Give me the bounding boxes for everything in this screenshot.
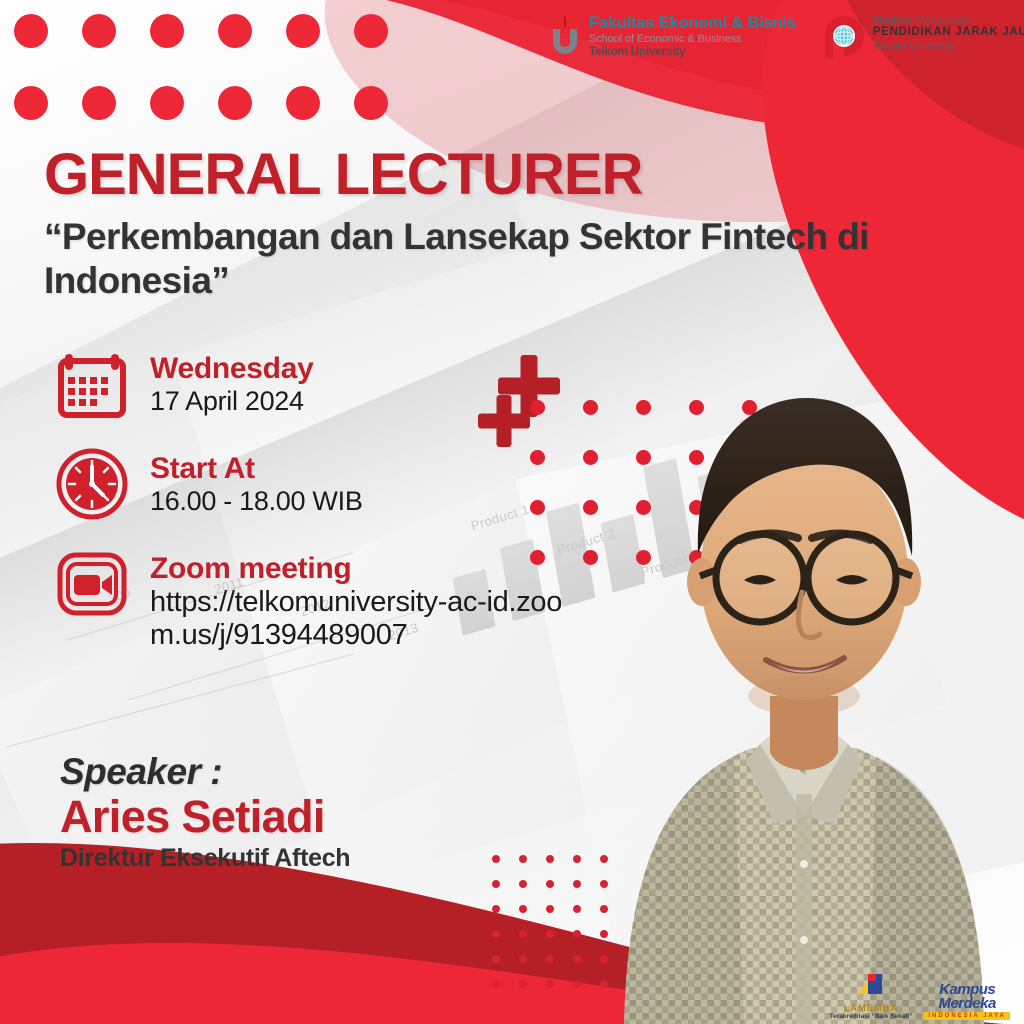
logo-fakultas-line1: Fakultas Ekonomi & Bisnis [589, 14, 796, 33]
lamemba-subtitle: Terakreditasi “Baik Sekali” [830, 1013, 913, 1020]
speaker-label: Speaker : [60, 752, 350, 792]
zoom-meeting-link[interactable]: https://telkomuniversity-ac-id.zoom.us/j… [150, 586, 570, 653]
lamemba-title: LAMEMBA [830, 1003, 913, 1013]
speaker-role: Direktur Eksekutif Aftech [60, 844, 350, 873]
logo-pjj-line2: PENDIDIKAN JARAK JAUH [873, 26, 1024, 40]
kampus-merdeka-band: INDONESIA JAYA [924, 1012, 1010, 1020]
logo-fakultas-line2: School of Economic & Business [589, 33, 796, 46]
info-date-title: Wednesday [150, 352, 313, 386]
logo-fakultas-ekonomi-bisnis: Fakultas Ekonomi & Bisnis School of Econ… [548, 14, 796, 60]
video-camera-icon [56, 548, 128, 620]
logo-fakultas-line3: Telkom University [589, 46, 796, 60]
lamemba-mark-icon [854, 972, 888, 998]
logo-pjj-line1: Magister Manajemen [873, 14, 1024, 26]
info-time-title: Start At [150, 452, 363, 486]
clock-icon [56, 448, 128, 520]
info-zoom-title: Zoom meeting [150, 552, 570, 586]
dot-grid-top-left [14, 14, 388, 120]
logo-magister-manajemen-pjj: Magister Manajemen PENDIDIKAN JARAK JAUH… [822, 14, 1024, 60]
headline-block: GENERAL LECTURER “Perkembangan dan Lanse… [44, 146, 894, 304]
info-date-value: 17 April 2024 [150, 386, 313, 418]
telkom-u-logo-icon [548, 14, 582, 56]
poster-canvas: 300 2011 2012 2013 Product 1 Product 2 P… [0, 0, 1024, 1024]
header-logos: Fakultas Ekonomi & Bisnis School of Econ… [548, 14, 1024, 60]
page-title: GENERAL LECTURER [44, 146, 894, 204]
info-row-date: Wednesday 17 April 2024 [56, 348, 570, 420]
info-time-value: 16.00 - 18.00 WIB [150, 486, 363, 518]
speaker-block: Speaker : Aries Setiadi Direktur Eksekut… [60, 752, 350, 873]
kampus-merdeka-line2: Merdeka [924, 997, 1010, 1011]
page-subtitle: “Perkembangan dan Lansekap Sektor Fintec… [44, 215, 894, 304]
footer-logos: LAMEMBA Terakreditasi “Baik Sekali” Kamp… [830, 972, 1010, 1020]
logo-kampus-merdeka: Kampus Merdeka INDONESIA JAYA [924, 983, 1010, 1020]
logo-pjj-line3: Telkom University [873, 40, 1024, 52]
logo-lamemba: LAMEMBA Terakreditasi “Baik Sekali” [830, 972, 913, 1020]
calendar-icon [56, 348, 128, 420]
event-info-list: Wednesday 17 April 2024 [56, 348, 570, 680]
pjj-globe-logo-icon [822, 14, 866, 60]
speaker-name: Aries Setiadi [60, 792, 350, 842]
info-row-time: Start At 16.00 - 18.00 WIB [56, 448, 570, 520]
speaker-photo [584, 324, 1024, 1024]
info-row-zoom: Zoom meeting https://telkomuniversity-ac… [56, 548, 570, 652]
